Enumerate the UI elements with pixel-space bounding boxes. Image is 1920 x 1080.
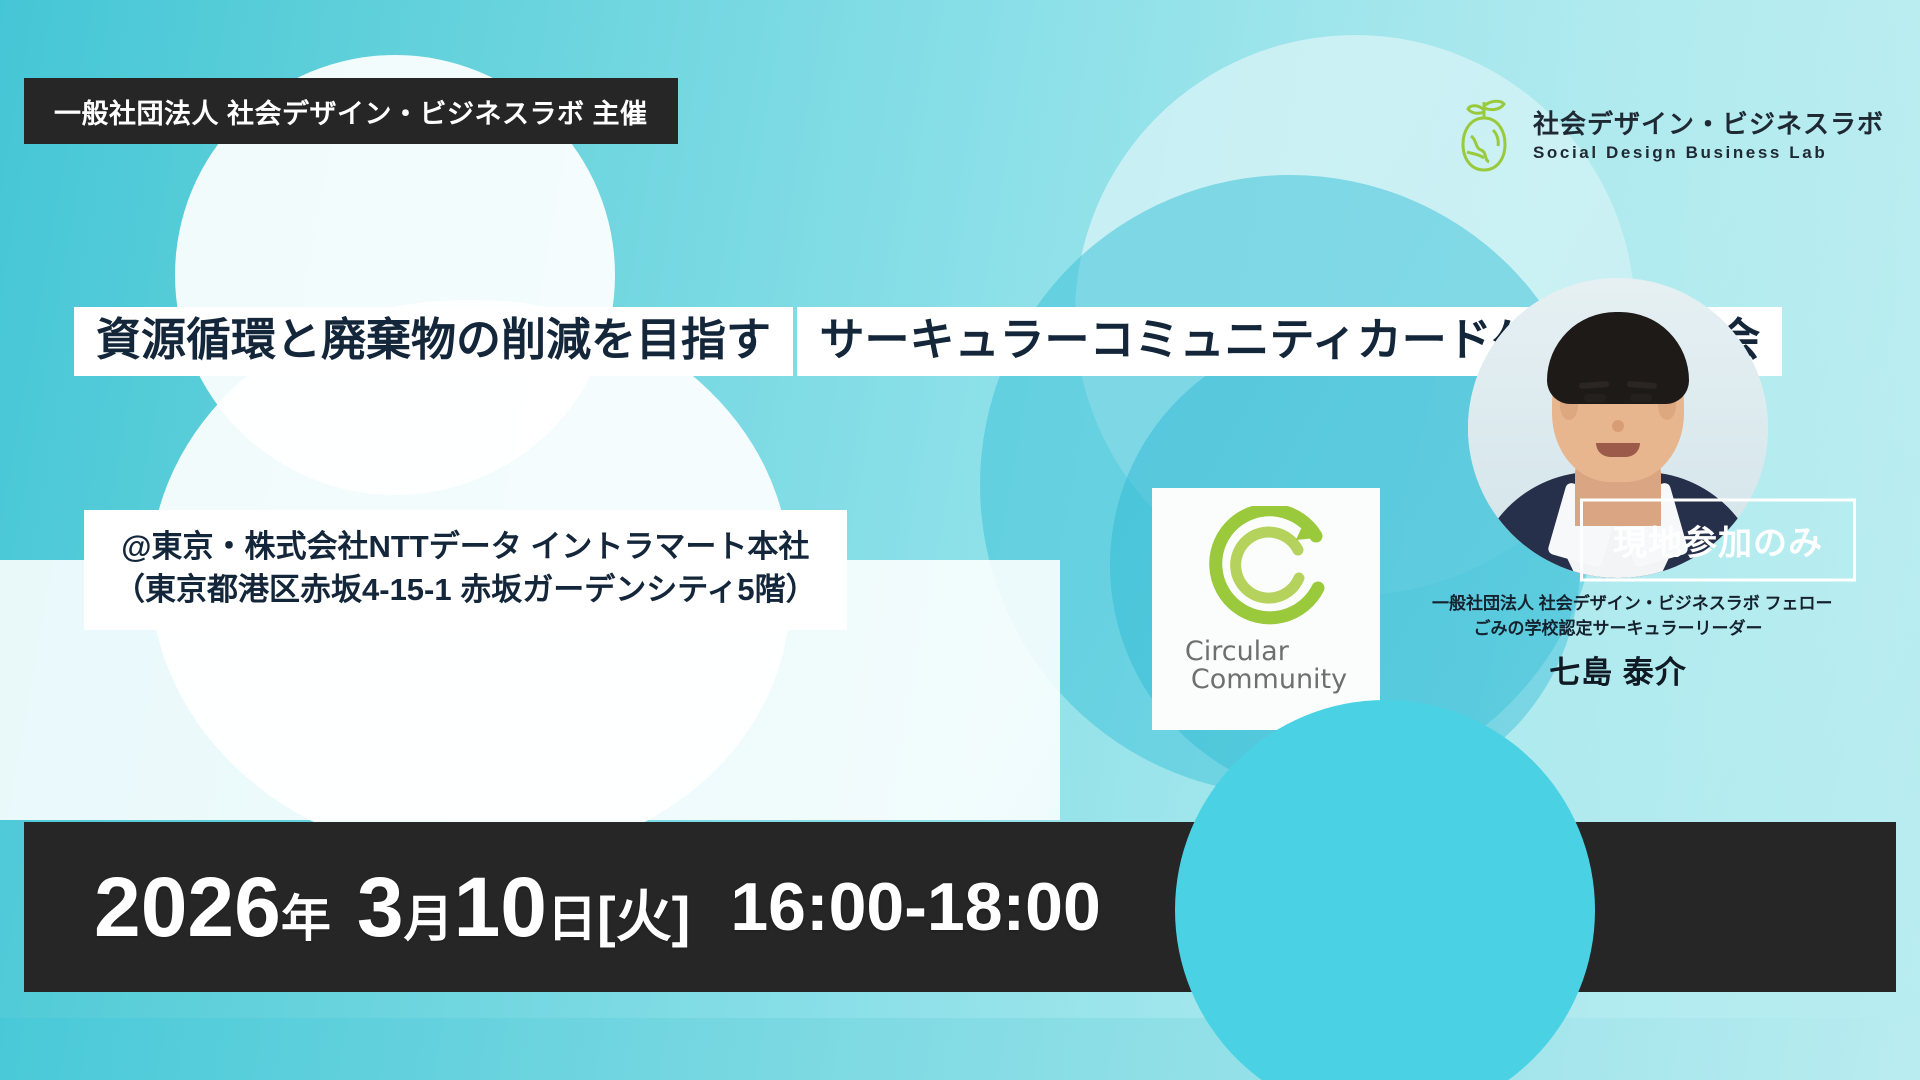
organizer-label: 一般社団法人 社会デザイン・ビジネスラボ 主催 — [54, 92, 648, 131]
partner-word-1: Circular — [1185, 638, 1347, 666]
brand-logo: 社会デザイン・ビジネスラボ Social Design Business Lab — [1451, 96, 1884, 176]
speaker-credential-2: ごみの学校認定サーキュラーリーダー — [1432, 617, 1804, 642]
venue-line-2: （東京都港区赤坂4-15-1 赤坂ガーデンシティ5階） — [114, 569, 817, 612]
event-date: 2026 年 3 月 10 日 [火] — [94, 865, 690, 949]
schedule-content: 2026 年 3 月 10 日 [火] 16:00-18:00 — [24, 822, 1896, 992]
attendance-badge: 現地参加のみ — [1580, 499, 1856, 582]
event-title-line-1: 資源循環と廃棄物の削減を目指す — [74, 307, 793, 376]
partner-logo-card: Circular Community — [1152, 488, 1380, 730]
circular-community-icon — [1198, 506, 1334, 634]
date-day-unit: 日 — [547, 894, 597, 944]
date-day-of-week: [火] — [597, 889, 690, 945]
brand-name-ja: 社会デザイン・ビジネスラボ — [1533, 111, 1884, 137]
date-year: 2026 — [94, 865, 281, 949]
bottom-accent-strip — [0, 1018, 1920, 1080]
speaker-credential-1: 一般社団法人 社会デザイン・ビジネスラボ フェロー — [1432, 592, 1804, 617]
brand-name-en: Social Design Business Lab — [1533, 144, 1884, 161]
date-day: 10 — [454, 865, 547, 949]
event-time: 16:00-18:00 — [730, 873, 1100, 941]
event-banner: 一般社団法人 社会デザイン・ビジネスラボ 主催 社会デザイン・ビジネスラボ So… — [0, 0, 1920, 1080]
speaker-name: 七島 泰介 — [1432, 647, 1804, 692]
date-month-unit: 月 — [404, 894, 454, 944]
date-month: 3 — [357, 865, 404, 949]
date-year-unit: 年 — [281, 894, 331, 944]
organizer-bar: 一般社団法人 社会デザイン・ビジネスラボ 主催 — [24, 78, 678, 144]
partner-word-2: Community — [1191, 666, 1347, 694]
speaker-block: 一般社団法人 社会デザイン・ビジネスラボ フェロー ごみの学校認定サーキュラーリ… — [1432, 278, 1804, 692]
venue-line-1: @東京・株式会社NTTデータ イントラマート本社 — [114, 526, 817, 569]
brand-logo-words: 社会デザイン・ビジネスラボ Social Design Business Lab — [1533, 111, 1884, 161]
venue-box: @東京・株式会社NTTデータ イントラマート本社 （東京都港区赤坂4-15-1 … — [84, 510, 847, 630]
pear-globe-icon — [1451, 96, 1517, 176]
attendance-badge-label: 現地参加のみ — [1613, 525, 1823, 563]
partner-logo-words: Circular Community — [1185, 638, 1347, 695]
speaker-credentials: 一般社団法人 社会デザイン・ビジネスラボ フェロー ごみの学校認定サーキュラーリ… — [1432, 592, 1804, 692]
